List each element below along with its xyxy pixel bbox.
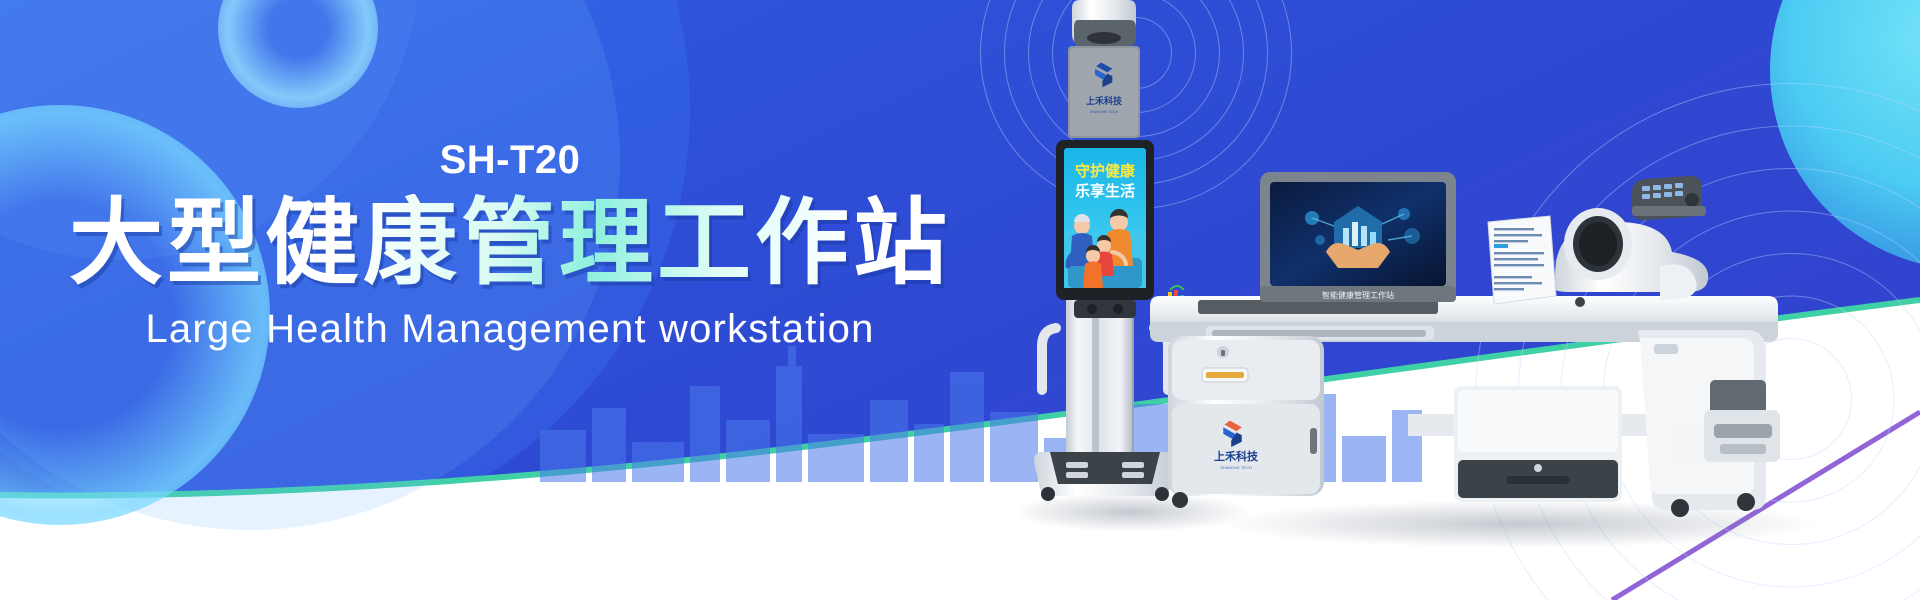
paper-roll [1672,428,1704,464]
desk-caster-right [1671,499,1689,517]
workstation-laptop: 智能健康管理工作站 [1260,172,1456,302]
desk-caster-left [1172,492,1188,508]
cabinet-lower-door [1172,404,1320,494]
kiosk-shadow [1020,492,1250,532]
kiosk-caster-left [1041,487,1055,501]
blood-pressure-monitor [1555,176,1708,307]
sensor-lens [1087,32,1121,44]
banner-copy: SH-T20 大型健康管理工作站 Large Health Management… [0,140,1020,351]
subtitle-english: Large Health Management workstation [0,307,1020,351]
product-banner: SH-T20 大型健康管理工作站 Large Health Management… [0,0,1920,600]
kiosk-brand-subtext: SHANGHE TECH [1090,110,1119,114]
kiosk-sensor-bar [1074,300,1136,318]
kiosk-caster-right [1155,487,1169,501]
cabinet-brand-subtext: SHANGHE TECH [1220,465,1252,470]
kiosk-footplate [1050,452,1160,484]
kiosk-screen-headline-2: 乐享生活 [1075,182,1135,200]
kiosk-handrail-left [1042,328,1056,390]
desk-inset-panel [1198,300,1438,314]
page-title: 大型健康管理工作站 [0,194,1020,293]
health-kiosk: 上禾科技 SHANGHE TECH 守护健康 乐享生活 [1034,0,1176,501]
kiosk-screen-headline-1: 守护健康 [1075,162,1136,180]
laptop-label: 智能健康管理工作站 [1322,290,1394,300]
health-workstation-desk: 上禾科技 SHANGHE TECH [1150,172,1780,517]
desk-caster-far-right [1737,493,1755,511]
cabinet-handle [1310,428,1317,454]
printed-health-report [1488,216,1556,304]
cabinet-brand-text: 上禾科技 [1214,449,1259,463]
product-photo-group: 上禾科技 SHANGHE TECH 守护健康 乐享生活 [1020,0,1920,600]
model-code: SH-T20 [0,140,1020,180]
kiosk-brand-text: 上禾科技 [1086,95,1123,107]
